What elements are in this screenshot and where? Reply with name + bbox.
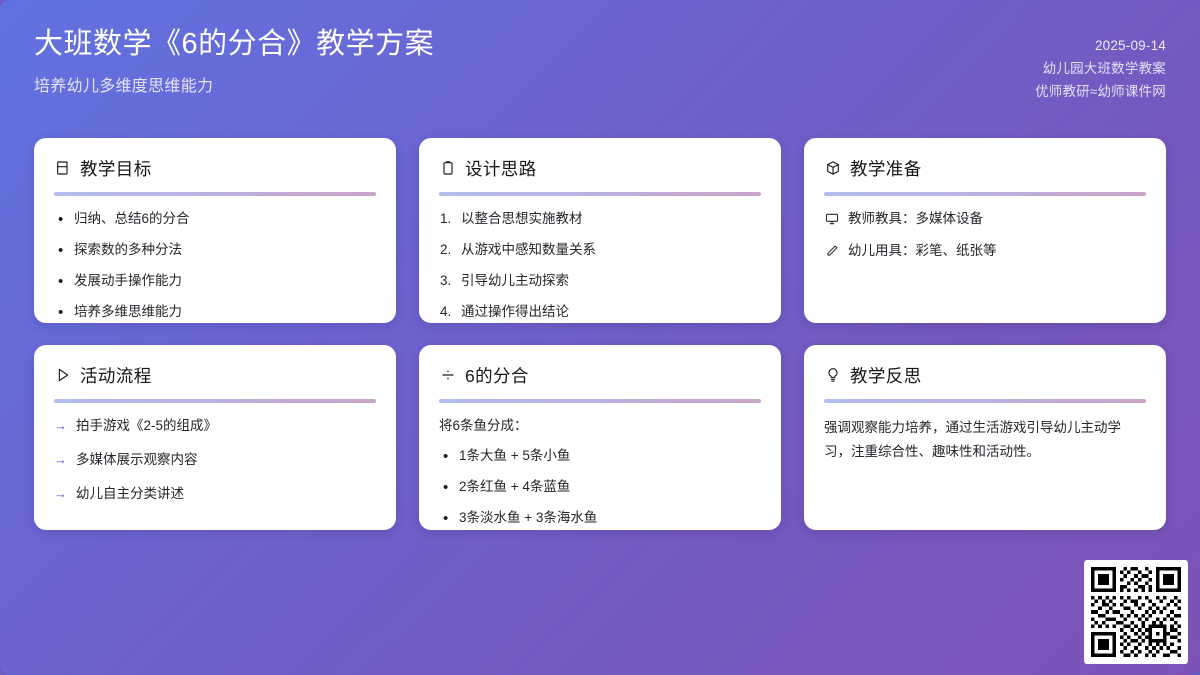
card-title: 教学目标 xyxy=(80,156,152,181)
card-divider xyxy=(824,399,1146,403)
card-teaching-objectives: 教学目标 归纳、总结6的分合 探索数的多种分法 发展动手操作能力 培养多维思维能… xyxy=(34,138,396,323)
card-title: 设计思路 xyxy=(465,156,537,181)
card-teaching-preparation: 教学准备 教师教具：多媒体设备 xyxy=(804,138,1166,323)
list-item: 教师教具：多媒体设备 xyxy=(824,209,1146,230)
card-header: 6的分合 xyxy=(439,362,761,388)
decomposition-list: 1条大鱼 + 5条小鱼 2条红鱼 + 4条蓝鱼 3条淡水鱼 + 3条海水鱼 xyxy=(439,446,761,529)
list-item: 幼儿用具：彩笔、纸张等 xyxy=(824,241,1146,262)
card-grid: 教学目标 归纳、总结6的分合 探索数的多种分法 发展动手操作能力 培养多维思维能… xyxy=(34,138,1166,530)
card-title: 教学反思 xyxy=(850,363,922,388)
card-header: 教学反思 xyxy=(824,362,1146,388)
list-item: 探索数的多种分法 xyxy=(54,240,376,261)
card-divider xyxy=(439,399,761,403)
design-steps-list: 以整合思想实施教材 从游戏中感知数量关系 引导幼儿主动探索 通过操作得出结论 xyxy=(439,209,761,323)
header-category: 幼儿园大班数学教案 xyxy=(1035,57,1166,80)
list-item: 多媒体展示观察内容 xyxy=(54,450,376,471)
slide-header: 大班数学《6的分合》教学方案 培养幼儿多维度思维能力 2025-09-14 幼儿… xyxy=(0,0,1200,126)
list-item: 拍手游戏《2-5的组成》 xyxy=(54,416,376,437)
card-title: 活动流程 xyxy=(80,363,152,388)
list-item: 以整合思想实施教材 xyxy=(439,209,761,230)
divide-icon xyxy=(439,367,456,384)
card-number-decomposition: 6的分合 将6条鱼分成： 1条大鱼 + 5条小鱼 2条红鱼 + 4条蓝鱼 3条淡… xyxy=(419,345,781,530)
preparation-list: 教师教具：多媒体设备 幼儿用具：彩笔、纸张等 xyxy=(824,209,1146,262)
card-activity-flow: 活动流程 拍手游戏《2-5的组成》 多媒体展示观察内容 幼儿自主分类讲述 xyxy=(34,345,396,530)
card-title: 教学准备 xyxy=(850,156,922,181)
card-design-approach: 设计思路 以整合思想实施教材 从游戏中感知数量关系 引导幼儿主动探索 通过操作得… xyxy=(419,138,781,323)
qr-code-image xyxy=(1091,567,1181,657)
play-icon xyxy=(54,367,71,384)
card-header: 教学目标 xyxy=(54,155,376,181)
card-header: 教学准备 xyxy=(824,155,1146,181)
list-item: 归纳、总结6的分合 xyxy=(54,209,376,230)
list-item: 3条淡水鱼 + 3条海水鱼 xyxy=(439,508,761,529)
decomposition-intro: 将6条鱼分成： xyxy=(439,416,761,437)
clipboard-icon xyxy=(439,160,456,177)
page-title: 大班数学《6的分合》教学方案 xyxy=(34,26,434,64)
card-divider xyxy=(824,192,1146,196)
list-item-label: 幼儿用具：彩笔、纸张等 xyxy=(848,241,997,262)
card-title: 6的分合 xyxy=(465,363,529,388)
card-header: 活动流程 xyxy=(54,362,376,388)
list-item: 培养多维思维能力 xyxy=(54,302,376,323)
card-divider xyxy=(439,192,761,196)
header-meta-block: 2025-09-14 幼儿园大班数学教案 优师教研≈幼师课件网 xyxy=(1035,34,1166,104)
header-date: 2025-09-14 xyxy=(1035,34,1166,57)
qr-code xyxy=(1084,560,1188,664)
list-item: 从游戏中感知数量关系 xyxy=(439,240,761,261)
list-item: 2条红鱼 + 4条蓝鱼 xyxy=(439,477,761,498)
activity-flow-list: 拍手游戏《2-5的组成》 多媒体展示观察内容 幼儿自主分类讲述 xyxy=(54,416,376,505)
lightbulb-icon xyxy=(824,367,841,384)
list-item: 通过操作得出结论 xyxy=(439,302,761,323)
header-title-block: 大班数学《6的分合》教学方案 培养幼儿多维度思维能力 xyxy=(34,26,434,96)
list-item: 幼儿自主分类讲述 xyxy=(54,484,376,505)
card-teaching-reflection: 教学反思 强调观察能力培养，通过生活游戏引导幼儿主动学习，注重综合性、趣味性和活… xyxy=(804,345,1166,530)
list-item: 1条大鱼 + 5条小鱼 xyxy=(439,446,761,467)
book-icon xyxy=(54,160,71,177)
reflection-text: 强调观察能力培养，通过生活游戏引导幼儿主动学习，注重综合性、趣味性和活动性。 xyxy=(824,416,1146,464)
card-divider xyxy=(54,399,376,403)
objectives-list: 归纳、总结6的分合 探索数的多种分法 发展动手操作能力 培养多维思维能力 xyxy=(54,209,376,323)
page-subtitle: 培养幼儿多维度思维能力 xyxy=(34,72,434,96)
list-item: 发展动手操作能力 xyxy=(54,271,376,292)
card-header: 设计思路 xyxy=(439,155,761,181)
list-item: 引导幼儿主动探索 xyxy=(439,271,761,292)
pencil-icon xyxy=(824,244,839,259)
card-divider xyxy=(54,192,376,196)
monitor-icon xyxy=(824,212,839,227)
slide-root: 大班数学《6的分合》教学方案 培养幼儿多维度思维能力 2025-09-14 幼儿… xyxy=(0,0,1200,675)
box-icon xyxy=(824,160,841,177)
list-item-label: 教师教具：多媒体设备 xyxy=(848,209,983,230)
header-source: 优师教研≈幼师课件网 xyxy=(1035,80,1166,103)
